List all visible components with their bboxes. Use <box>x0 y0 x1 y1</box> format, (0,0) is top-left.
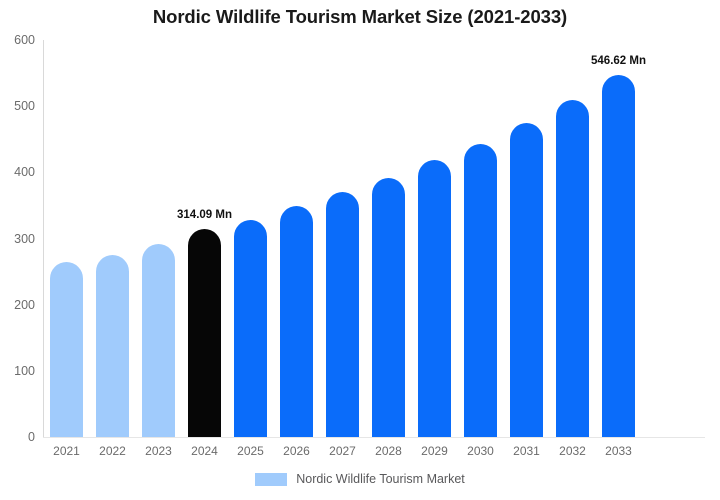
bar-2024[interactable] <box>188 229 221 437</box>
x-axis-tick-2023: 2023 <box>142 444 175 458</box>
bar-2032[interactable] <box>556 100 589 437</box>
x-axis-tick-2029: 2029 <box>418 444 451 458</box>
y-axis-tick-400: 400 <box>2 165 35 179</box>
x-axis-line <box>43 437 705 438</box>
bar-2026[interactable] <box>280 206 313 437</box>
bar-value-label-2024: 314.09 Mn <box>177 209 232 221</box>
bar-2029[interactable] <box>418 160 451 437</box>
x-axis-tick-2031: 2031 <box>510 444 543 458</box>
x-axis-tick-2026: 2026 <box>280 444 313 458</box>
bar-group[interactable] <box>372 40 405 437</box>
x-axis-tick-2033: 2033 <box>602 444 635 458</box>
x-axis-tick-2028: 2028 <box>372 444 405 458</box>
x-axis-tick-2032: 2032 <box>556 444 589 458</box>
bar-group[interactable] <box>464 40 497 437</box>
bar-group[interactable] <box>142 40 175 437</box>
chart-container: Nordic Wildlife Tourism Market Size (202… <box>0 0 720 500</box>
y-axis-tick-300: 300 <box>2 232 35 246</box>
bar-group[interactable]: 314.09 Mn <box>188 40 221 437</box>
x-axis-tick-2022: 2022 <box>96 444 129 458</box>
bar-2033[interactable] <box>602 75 635 437</box>
bar-group[interactable] <box>280 40 313 437</box>
chart-legend: Nordic Wildlife Tourism Market <box>0 472 720 486</box>
bar-2028[interactable] <box>372 178 405 437</box>
bar-group[interactable] <box>326 40 359 437</box>
bar-2027[interactable] <box>326 192 359 437</box>
bar-group[interactable] <box>556 40 589 437</box>
legend-label: Nordic Wildlife Tourism Market <box>296 472 465 486</box>
bar-group[interactable] <box>418 40 451 437</box>
y-axis-tick-200: 200 <box>2 298 35 312</box>
y-axis-tick-0: 0 <box>2 430 35 444</box>
bar-2030[interactable] <box>464 144 497 437</box>
bar-value-label-2033: 546.62 Mn <box>591 55 646 67</box>
x-axis-tick-2021: 2021 <box>50 444 83 458</box>
y-axis-tick-500: 500 <box>2 99 35 113</box>
legend-swatch-icon <box>255 473 287 486</box>
bar-group[interactable] <box>96 40 129 437</box>
plot-area: 314.09 Mn546.62 Mn <box>43 40 705 437</box>
x-axis-tick-2027: 2027 <box>326 444 359 458</box>
bar-2023[interactable] <box>142 244 175 437</box>
bar-group[interactable] <box>510 40 543 437</box>
y-axis-tick-600: 600 <box>2 33 35 47</box>
bar-group[interactable] <box>234 40 267 437</box>
bar-2031[interactable] <box>510 123 543 437</box>
y-axis-tick-100: 100 <box>2 364 35 378</box>
bar-2021[interactable] <box>50 262 83 437</box>
bar-2022[interactable] <box>96 255 129 437</box>
bar-series: 314.09 Mn546.62 Mn <box>43 40 705 437</box>
bar-group[interactable]: 546.62 Mn <box>602 40 635 437</box>
bar-group[interactable] <box>50 40 83 437</box>
chart-title: Nordic Wildlife Tourism Market Size (202… <box>0 6 720 28</box>
x-axis-tick-2024: 2024 <box>188 444 221 458</box>
x-axis-tick-2030: 2030 <box>464 444 497 458</box>
x-axis-tick-2025: 2025 <box>234 444 267 458</box>
bar-2025[interactable] <box>234 220 267 437</box>
